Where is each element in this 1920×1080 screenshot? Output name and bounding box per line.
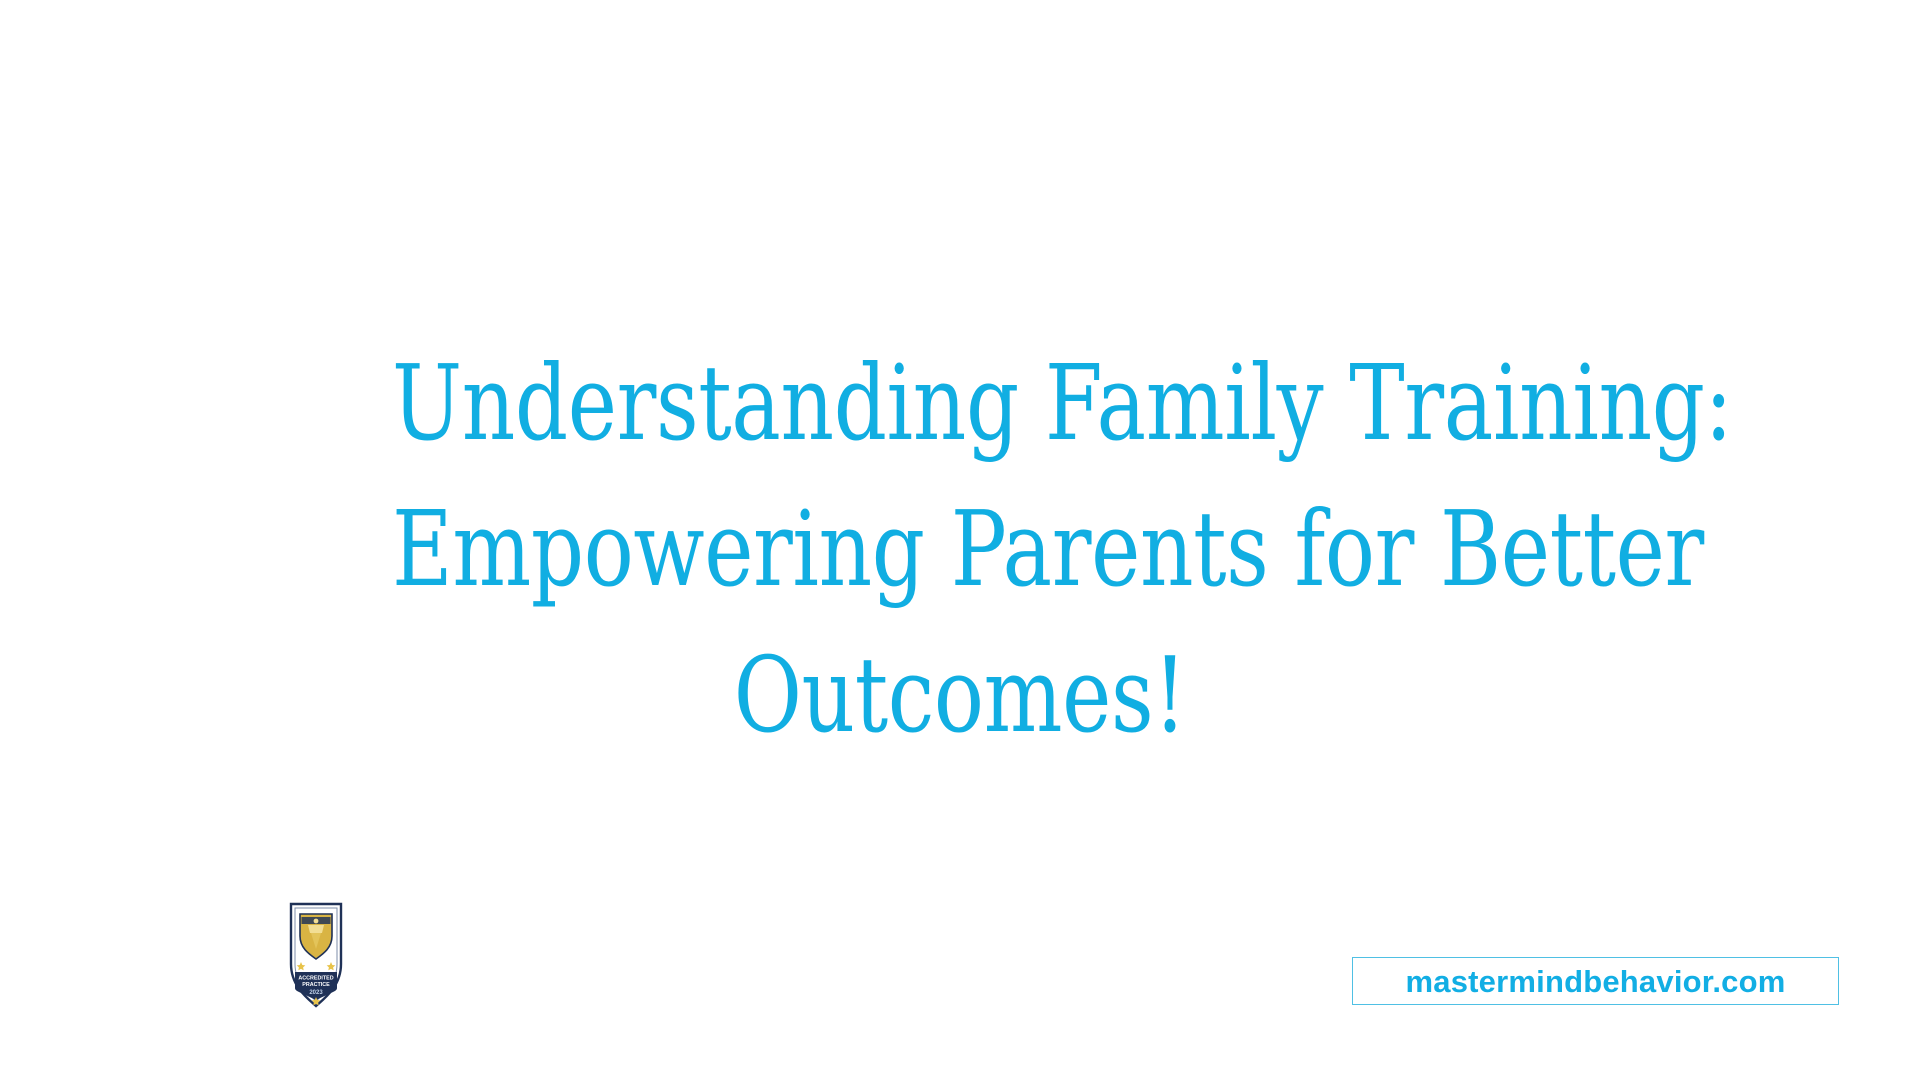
page-title: Understanding Family Training: Empowerin…: [250, 330, 1670, 768]
slide-canvas: Understanding Family Training: Empowerin…: [0, 0, 1920, 1080]
badge-practice-text: PRACTICE: [302, 982, 330, 988]
badge-year-text: 2023: [309, 990, 323, 996]
shield-icon: ACCREDITED PRACTICE 2023: [288, 898, 344, 1010]
title-line-2: Empowering Parents for Better: [392, 476, 1528, 622]
website-url-label: mastermindbehavior.com: [1406, 966, 1786, 997]
title-line-1: Understanding Family Training:: [392, 330, 1528, 476]
badge-accredited-text: ACCREDITED: [298, 976, 333, 982]
accreditation-badge: ACCREDITED PRACTICE 2023: [288, 898, 344, 1010]
title-line-3: Outcomes!: [392, 622, 1528, 768]
website-url-chip[interactable]: mastermindbehavior.com: [1352, 957, 1839, 1005]
